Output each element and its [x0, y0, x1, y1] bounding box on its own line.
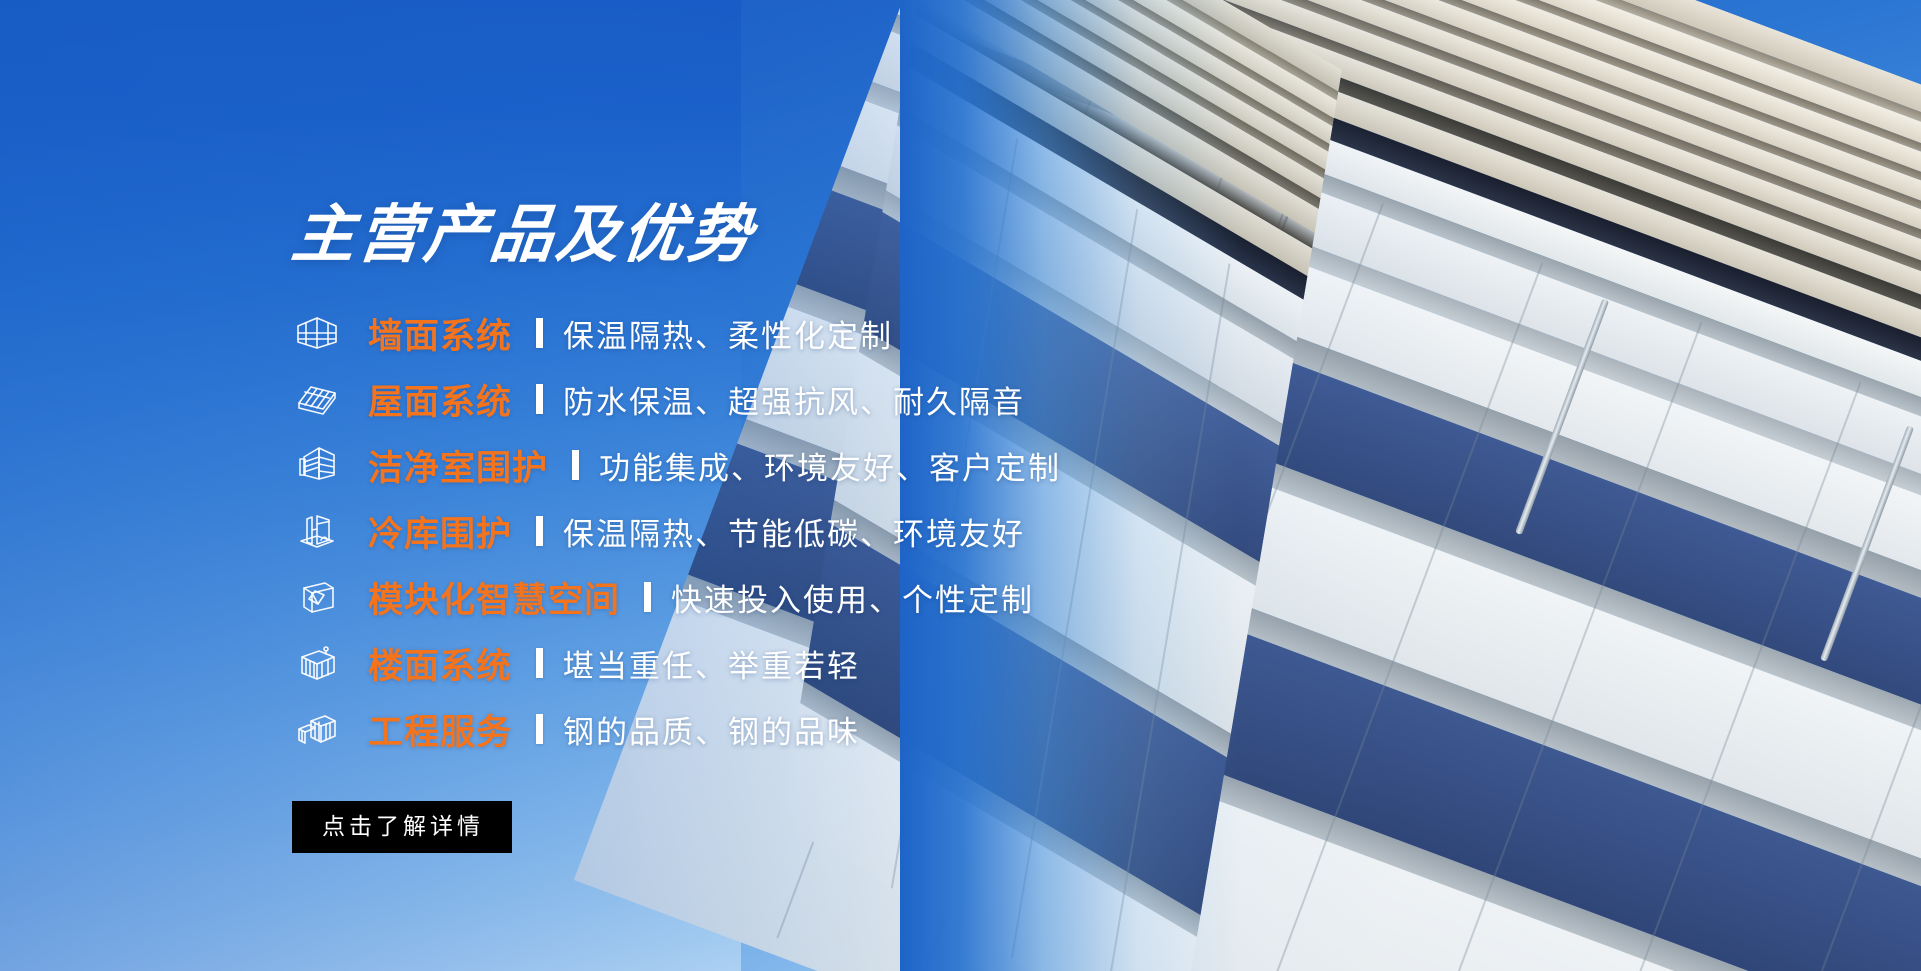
title-divider — [536, 714, 543, 744]
modular-cube-icon — [290, 573, 344, 621]
factory-buildings-icon — [290, 705, 344, 753]
page-title: 主营产品及优势 — [289, 204, 758, 267]
product-title: 模块化智慧空间 — [368, 572, 620, 623]
cleanroom-building-icon — [290, 441, 344, 489]
title-divider — [536, 318, 543, 348]
product-row[interactable]: 墙面系统保温隔热、柔性化定制 — [290, 300, 1470, 366]
product-row[interactable]: 屋面系统防水保温、超强抗风、耐久隔音 — [290, 366, 1470, 432]
product-description: 钢的品质、钢的品味 — [563, 707, 860, 752]
product-title: 工程服务 — [368, 704, 512, 755]
learn-more-button[interactable]: 点击了解详情 — [292, 801, 512, 853]
product-row[interactable]: 洁净室围护功能集成、环境友好、客户定制 — [290, 432, 1470, 498]
cold-storage-icon — [290, 507, 344, 555]
product-row[interactable]: 工程服务钢的品质、钢的品味 — [290, 696, 1470, 762]
title-divider — [572, 450, 579, 480]
banner-content: 主营产品及优势 墙面系统保温隔热、柔性化定制屋面系统防水保温、超强抗风、耐久隔音… — [0, 0, 1921, 971]
roof-panel-icon — [290, 375, 344, 423]
product-description: 功能集成、环境友好、客户定制 — [599, 443, 1061, 488]
product-list: 墙面系统保温隔热、柔性化定制屋面系统防水保温、超强抗风、耐久隔音洁净室围护功能集… — [290, 300, 1470, 762]
product-row[interactable]: 模块化智慧空间快速投入使用、个性定制 — [290, 564, 1470, 630]
floor-deck-icon — [290, 639, 344, 687]
product-title: 洁净室围护 — [368, 440, 548, 491]
title-divider — [536, 384, 543, 414]
product-description: 保温隔热、节能低碳、环境友好 — [563, 509, 1025, 554]
product-title: 冷库围护 — [368, 506, 512, 557]
product-title: 墙面系统 — [368, 308, 512, 359]
product-description: 堪当重任、举重若轻 — [563, 641, 860, 686]
title-divider — [536, 648, 543, 678]
product-description: 快速投入使用、个性定制 — [671, 575, 1034, 620]
product-title: 楼面系统 — [368, 638, 512, 689]
product-description: 防水保温、超强抗风、耐久隔音 — [563, 377, 1025, 422]
promo-banner: 主营产品及优势 墙面系统保温隔热、柔性化定制屋面系统防水保温、超强抗风、耐久隔音… — [0, 0, 1921, 971]
title-divider — [644, 582, 651, 612]
product-row[interactable]: 楼面系统堪当重任、举重若轻 — [290, 630, 1470, 696]
title-divider — [536, 516, 543, 546]
product-description: 保温隔热、柔性化定制 — [563, 311, 893, 356]
product-row[interactable]: 冷库围护保温隔热、节能低碳、环境友好 — [290, 498, 1470, 564]
wall-panel-icon — [290, 309, 344, 357]
product-title: 屋面系统 — [368, 374, 512, 425]
